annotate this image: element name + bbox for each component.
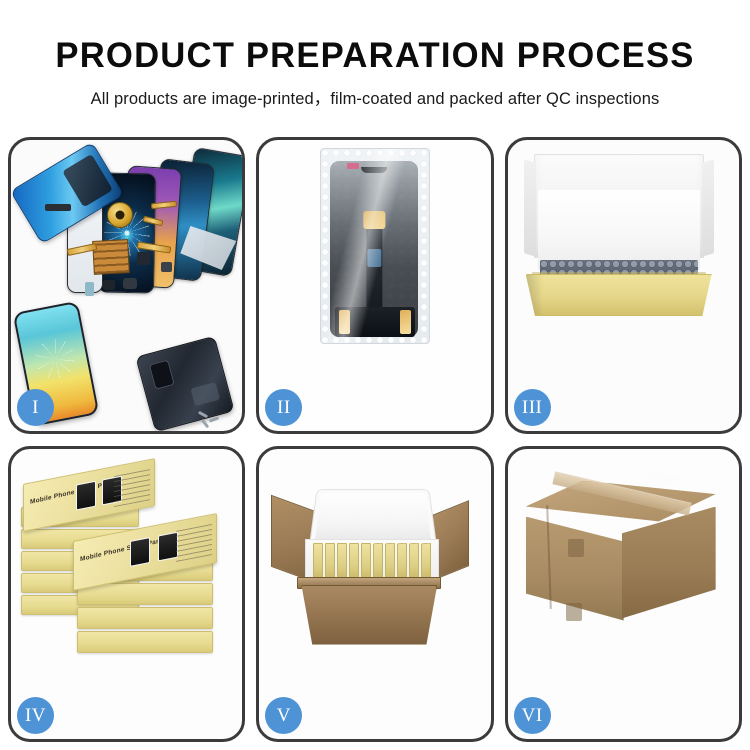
step-panel-3[interactable]: III (505, 137, 742, 434)
spec-text-lines (176, 522, 212, 561)
step-panel-1[interactable]: I (8, 137, 245, 434)
step-badge-4: IV (17, 697, 54, 734)
small-component (103, 280, 115, 290)
step-badge-2: II (265, 389, 302, 426)
step-5-image (259, 449, 490, 740)
inner-box (397, 543, 407, 581)
bubble-wrap-bag (320, 148, 430, 344)
spec-text-lines (114, 468, 150, 507)
carton-right-face (622, 507, 716, 619)
loose-screws (198, 411, 228, 427)
step-4-image: Mobile Phone Spare Parts Mobile Phone Sp… (11, 449, 242, 740)
inner-box (385, 543, 395, 581)
stacked-box (77, 631, 213, 653)
step-1-image (11, 140, 242, 431)
foam-sheet (538, 190, 700, 270)
step-3-image (508, 140, 739, 431)
screw-grid-tray (92, 239, 130, 275)
step-panel-4[interactable]: Mobile Phone Spare Parts Mobile Phone Sp… (8, 446, 245, 743)
step-2-image (259, 140, 490, 431)
lcd-connector-board (335, 307, 415, 337)
printed-screen-image (158, 531, 178, 561)
step-panel-5[interactable]: V (256, 446, 493, 743)
small-component (45, 204, 71, 211)
inner-box (349, 543, 359, 581)
inner-box (421, 543, 431, 581)
inner-box (313, 543, 323, 581)
page-subtitle: All products are image-printed，film-coat… (0, 85, 750, 109)
stacked-box (77, 607, 213, 629)
printed-screen-image (76, 480, 96, 510)
step-badge-3: III (514, 389, 551, 426)
step-badge-1: I (17, 389, 54, 426)
inner-box (325, 543, 335, 581)
carton-tab (568, 539, 584, 557)
box-label-text: Mobile Phone Spare Parts (80, 536, 165, 562)
page-title: PRODUCT PREPARATION PROCESS (4, 36, 747, 76)
carton-tab (566, 603, 582, 621)
printed-screen-image (130, 537, 150, 567)
inner-box-open (522, 154, 712, 324)
inner-boxes-row (313, 543, 431, 581)
inner-box (373, 543, 383, 581)
small-component (85, 282, 94, 296)
step-panel-2[interactable]: II (256, 137, 493, 434)
header: PRODUCT PREPARATION PROCESS All products… (0, 0, 750, 109)
inner-box (409, 543, 419, 581)
shipping-carton-open (273, 477, 465, 645)
product-preparation-infographic: PRODUCT PREPARATION PROCESS All products… (0, 0, 750, 750)
inner-box (337, 543, 347, 581)
speaker-component-icon (107, 202, 133, 228)
inner-box (361, 543, 371, 581)
box-stack: Mobile Phone Spare Parts Mobile Phone Sp… (21, 467, 221, 643)
carton-body (301, 585, 437, 645)
small-component (123, 278, 137, 289)
step-panel-6[interactable]: VI (505, 446, 742, 743)
small-component (161, 262, 172, 272)
step-6-image (508, 449, 739, 740)
process-steps-grid: I II (8, 137, 742, 742)
step-badge-6: VI (514, 697, 551, 734)
small-component (137, 252, 150, 265)
shipping-carton-sealed (526, 471, 716, 643)
box-tray-yellow (526, 274, 712, 316)
pink-label-tab (347, 163, 359, 169)
